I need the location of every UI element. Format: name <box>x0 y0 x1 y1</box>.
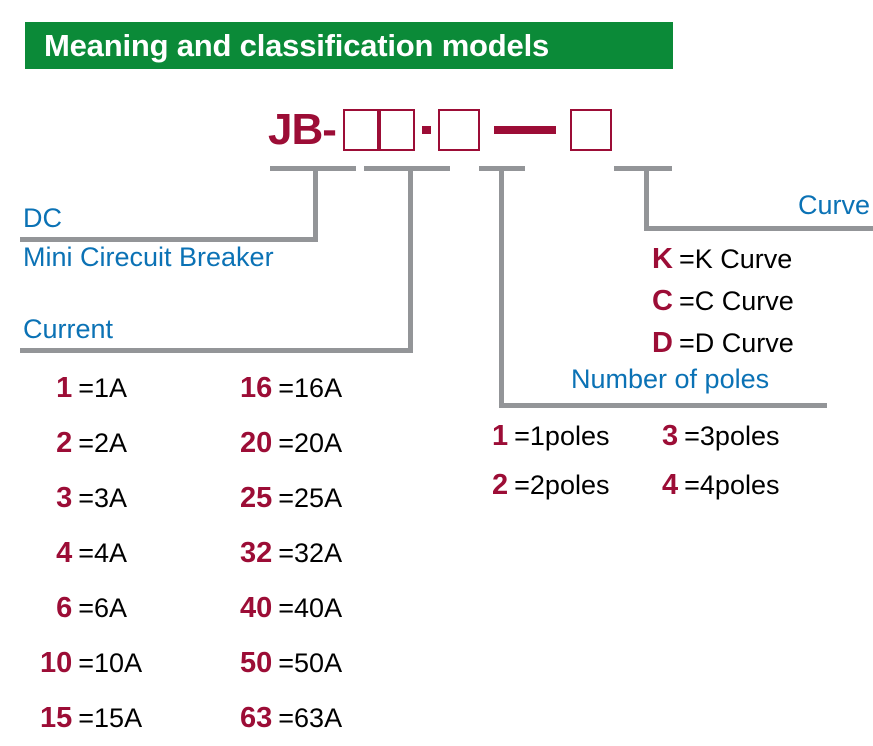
legend-code: 2 <box>40 427 78 460</box>
legend-code: 6 <box>40 592 78 625</box>
model-designation-diagram: Meaning and classification models JB- DC… <box>0 0 873 746</box>
legend-code: 3 <box>662 420 684 453</box>
legend-code: C <box>652 285 679 318</box>
separator-dash-icon <box>494 126 556 134</box>
legend-code: 4 <box>662 469 684 502</box>
code-box-poles <box>438 109 480 151</box>
legend-code: 15 <box>40 702 78 735</box>
label-curve: Curve <box>573 190 870 221</box>
current-legend-right: 16 =16A 20 =20A 25 =25A 32 =32A 40 =40A … <box>240 372 342 735</box>
legend-code: 4 <box>40 537 78 570</box>
legend-code: 32 <box>240 537 278 570</box>
legend-value: =25A <box>278 483 342 514</box>
legend-value: =63A <box>278 703 342 734</box>
legend-value: =6A <box>78 593 142 624</box>
legend-code: 3 <box>40 482 78 515</box>
code-box-curve <box>570 109 612 151</box>
label-product-dc: DC <box>23 203 62 234</box>
connector-stem-poles <box>499 166 504 408</box>
label-current: Current <box>23 314 113 345</box>
page-title: Meaning and classification models <box>44 28 549 64</box>
legend-code: K <box>652 243 679 276</box>
model-code-string: JB- <box>268 104 612 156</box>
poles-legend-right: 3 =3poles 4 =4poles <box>662 420 779 502</box>
label-product-name: Mini Cirecuit Breaker <box>23 242 274 273</box>
connector-underline-poles <box>499 403 827 408</box>
legend-value: =K Curve <box>679 244 794 275</box>
legend-value: =3poles <box>684 421 779 452</box>
legend-value: =32A <box>278 538 342 569</box>
code-box-current-1 <box>343 109 379 151</box>
legend-value: =1poles <box>514 421 609 452</box>
legend-value: =3A <box>78 483 142 514</box>
poles-legend-left: 1 =1poles 2 =2poles <box>492 420 609 502</box>
connector-cap-current <box>364 166 450 171</box>
connector-underline-current <box>20 348 413 353</box>
legend-code: 16 <box>240 372 278 405</box>
legend-code: 1 <box>492 420 514 453</box>
legend-value: =50A <box>278 648 342 679</box>
connector-underline-curve <box>644 226 873 231</box>
legend-code: 2 <box>492 469 514 502</box>
label-number-of-poles: Number of poles <box>571 364 769 395</box>
separator-dot-icon <box>422 126 431 134</box>
header-bar: Meaning and classification models <box>25 22 673 69</box>
legend-code: 25 <box>240 482 278 515</box>
connector-cap-curve <box>614 166 672 171</box>
legend-code: D <box>652 327 679 360</box>
legend-value: =2poles <box>514 470 609 501</box>
legend-value: =1A <box>78 373 142 404</box>
model-prefix-label: JB- <box>268 108 336 152</box>
legend-value: =2A <box>78 428 142 459</box>
legend-code: 1 <box>40 372 78 405</box>
legend-value: =40A <box>278 593 342 624</box>
legend-value: =10A <box>78 648 142 679</box>
current-legend-left: 1 =1A 2 =2A 3 =3A 4 =4A 6 =6A 10 =10A 15… <box>40 372 142 735</box>
legend-value: =16A <box>278 373 342 404</box>
legend-value: =4A <box>78 538 142 569</box>
connector-stem-current <box>408 166 413 353</box>
connector-stem-product <box>313 166 318 242</box>
legend-code: 20 <box>240 427 278 460</box>
legend-code: 50 <box>240 647 278 680</box>
legend-value: =C Curve <box>679 286 794 317</box>
legend-value: =20A <box>278 428 342 459</box>
curve-legend: K =K Curve C =C Curve D =D Curve <box>652 243 794 360</box>
legend-code: 10 <box>40 647 78 680</box>
legend-code: 63 <box>240 702 278 735</box>
legend-code: 40 <box>240 592 278 625</box>
legend-value: =D Curve <box>679 328 794 359</box>
legend-value: =15A <box>78 703 142 734</box>
legend-value: =4poles <box>684 470 779 501</box>
code-box-current-2 <box>379 109 415 151</box>
